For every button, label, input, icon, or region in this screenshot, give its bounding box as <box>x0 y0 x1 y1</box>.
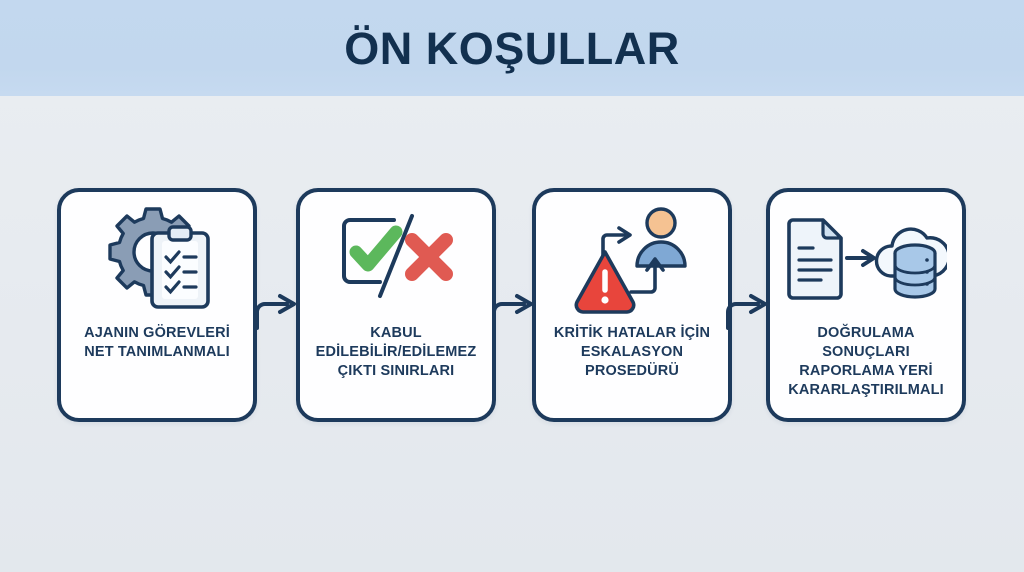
arrow-right-elbow-icon <box>728 296 765 328</box>
flow-step-card-3[interactable]: KRİTİK HATALAR İÇİNESKALASYONPROSEDÜRÜ <box>532 188 732 422</box>
flow-step-label-1: AJANIN GÖREVLERİNET TANIMLANMALI <box>61 324 253 362</box>
arrow-right-elbow-icon <box>494 296 531 328</box>
flow-step-label-4: DOĞRULAMASONUÇLARIRAPORLAMA YERİKARARLAŞ… <box>770 324 962 401</box>
gear-clipboard-icon <box>61 192 253 324</box>
check-cross-icon <box>300 192 492 324</box>
flow-step-card-2[interactable]: KABULEDİLEBİLİR/EDİLEMEZÇIKTI SINIRLARI <box>296 188 496 422</box>
warning-escalation-icon <box>536 192 728 324</box>
flow-step-card-4[interactable]: DOĞRULAMASONUÇLARIRAPORLAMA YERİKARARLAŞ… <box>766 188 966 422</box>
connector-1-2 <box>253 276 299 332</box>
page-title: ÖN KOŞULLAR <box>344 26 680 71</box>
flow-step-label-2: KABULEDİLEBİLİR/EDİLEMEZÇIKTI SINIRLARI <box>300 324 492 381</box>
process-flow: AJANIN GÖREVLERİNET TANIMLANMALI <box>0 96 1024 572</box>
connector-3-4 <box>724 276 770 332</box>
connector-2-3 <box>490 276 536 332</box>
arrow-right-elbow-icon <box>257 296 294 328</box>
flow-step-label-3: KRİTİK HATALAR İÇİNESKALASYONPROSEDÜRÜ <box>536 324 728 381</box>
document-cloud-database-icon <box>770 192 962 324</box>
slide-root: ÖN KOŞULLAR <box>0 0 1024 572</box>
header-band: ÖN KOŞULLAR <box>0 0 1024 96</box>
flow-step-card-1[interactable]: AJANIN GÖREVLERİNET TANIMLANMALI <box>57 188 257 422</box>
